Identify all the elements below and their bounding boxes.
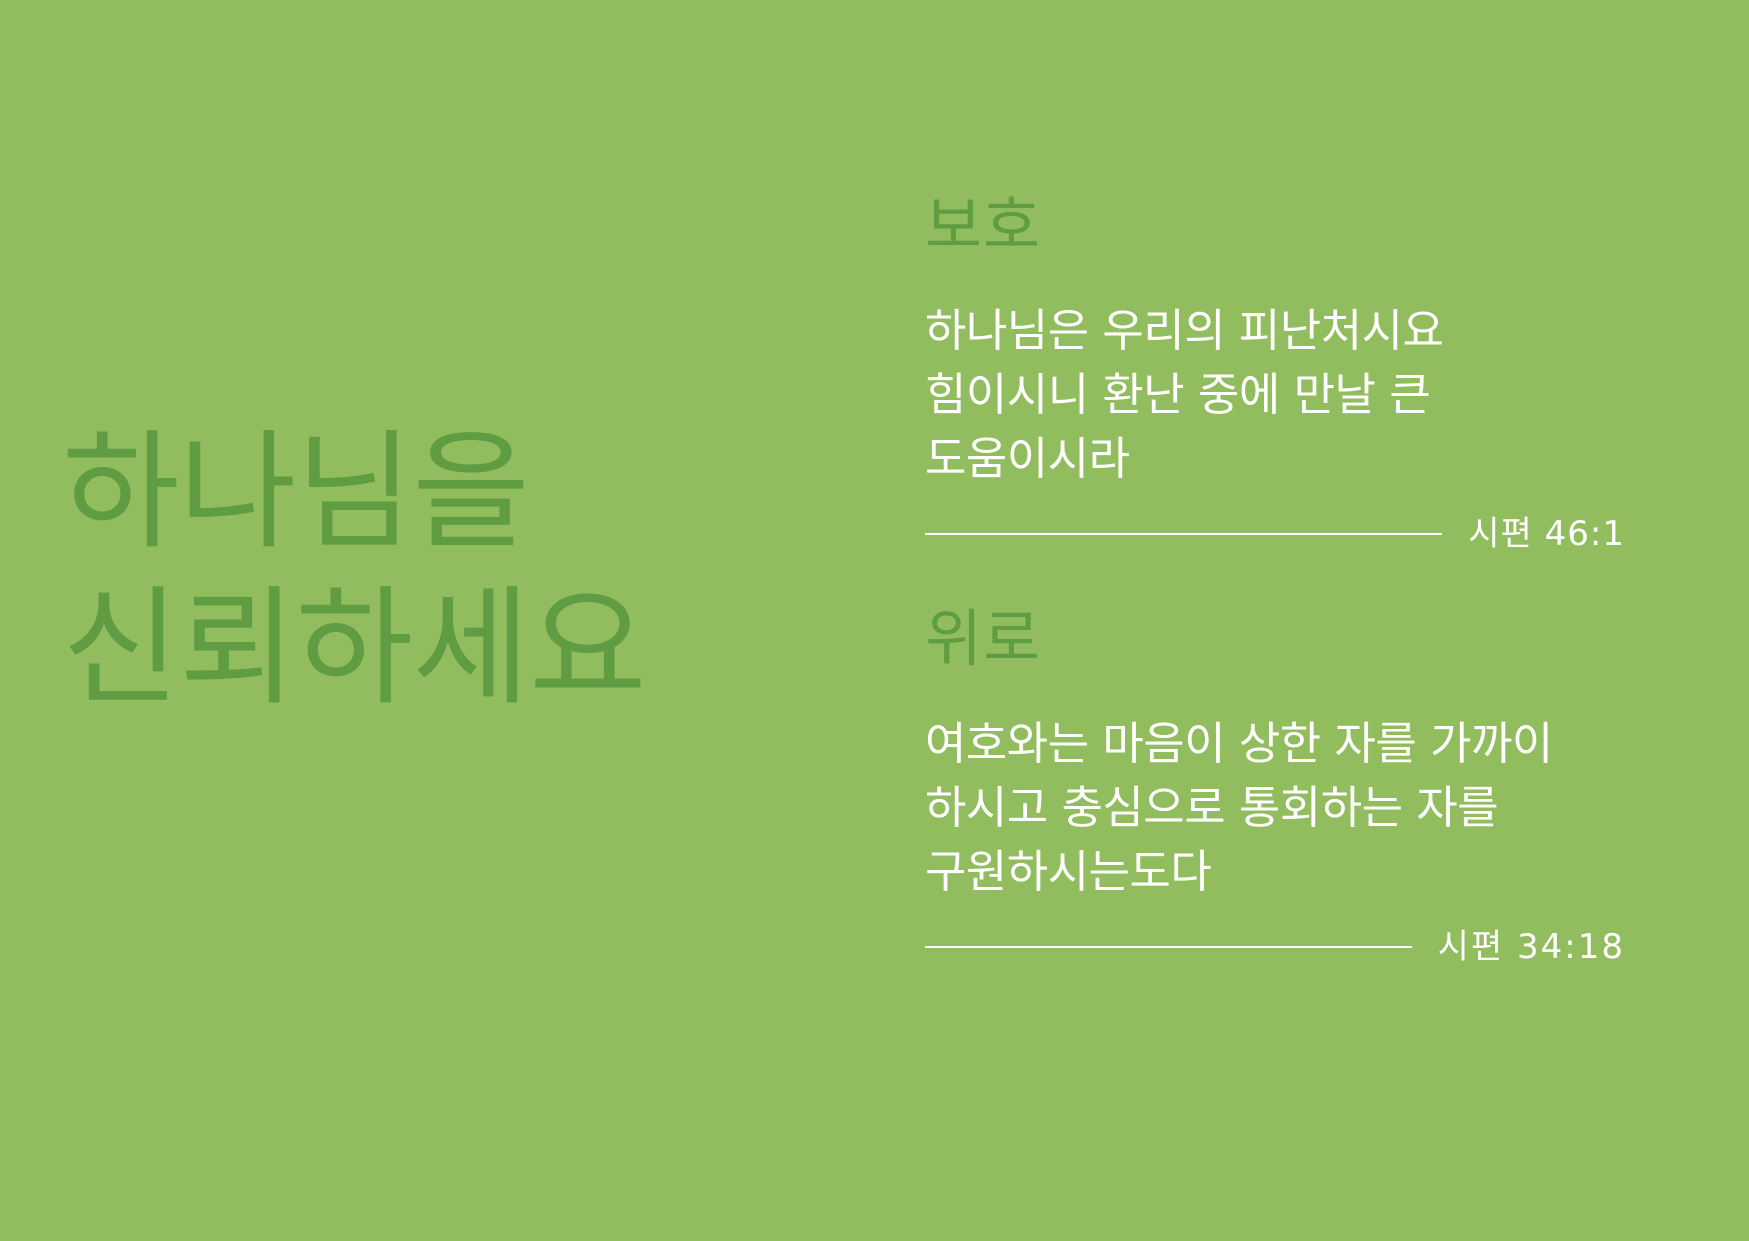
citation-reference: 시편 34:18 xyxy=(1438,930,1625,964)
verse-body-line: 여호와는 마음이 상한 자를 가까이 xyxy=(925,712,1625,776)
verse-body-line: 도움이시라 xyxy=(925,427,1625,491)
verse-heading: 위로 xyxy=(925,608,1625,670)
verse-body-line: 하시고 충심으로 통회하는 자를 xyxy=(925,776,1625,840)
verse-block-protection: 보호 하나님은 우리의 피난처시요 힘이시니 환난 중에 만날 큰 도움이시라 … xyxy=(925,195,1625,551)
verse-body: 여호와는 마음이 상한 자를 가까이 하시고 충심으로 통회하는 자를 구원하시… xyxy=(925,712,1625,904)
verses-column: 보호 하나님은 우리의 피난처시요 힘이시니 환난 중에 만날 큰 도움이시라 … xyxy=(925,0,1625,1241)
headline-line-2: 신뢰하세요 xyxy=(62,571,722,727)
verse-heading: 보호 xyxy=(925,195,1625,257)
citation-rule xyxy=(925,946,1412,948)
poster-canvas: 하나님을 신뢰하세요 보호 하나님은 우리의 피난처시요 힘이시니 환난 중에 … xyxy=(0,0,1749,1241)
citation-row: 시편 46:1 xyxy=(925,517,1625,551)
verse-block-comfort: 위로 여호와는 마음이 상한 자를 가까이 하시고 충심으로 통회하는 자를 구… xyxy=(925,608,1625,964)
citation-rule xyxy=(925,533,1442,535)
headline-line-1: 하나님을 xyxy=(62,415,722,571)
verse-body-line: 구원하시는도다 xyxy=(925,840,1625,904)
main-headline: 하나님을 신뢰하세요 xyxy=(62,415,722,727)
verse-body-line: 하나님은 우리의 피난처시요 xyxy=(925,299,1625,363)
verse-body-line: 힘이시니 환난 중에 만날 큰 xyxy=(925,363,1625,427)
citation-row: 시편 34:18 xyxy=(925,930,1625,964)
citation-reference: 시편 46:1 xyxy=(1468,517,1625,551)
verse-body: 하나님은 우리의 피난처시요 힘이시니 환난 중에 만날 큰 도움이시라 xyxy=(925,299,1625,491)
